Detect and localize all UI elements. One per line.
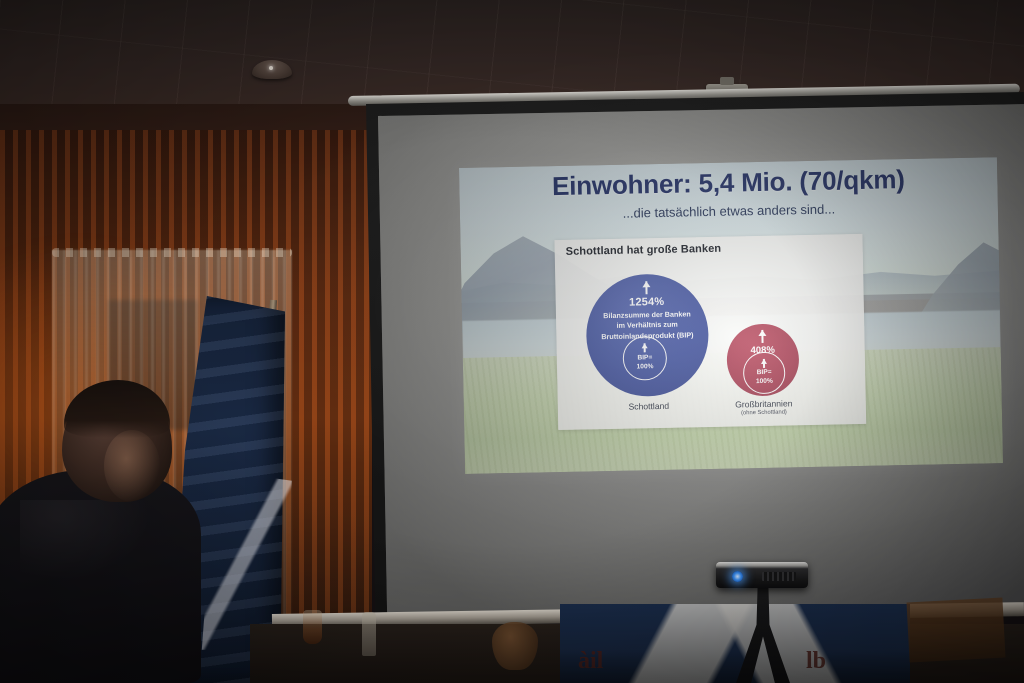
screen-vignette (378, 104, 1024, 622)
net-curtain-rail (52, 248, 292, 257)
projector-vent (762, 572, 796, 581)
photo-scene: Einwohner: 5,4 Mio. (70/qkm) ...die tats… (0, 0, 1024, 683)
banner-shadow (560, 604, 910, 683)
drinking-glass (303, 610, 322, 644)
projector-led-icon (732, 571, 743, 582)
bottle (362, 612, 376, 656)
presenter-face (104, 430, 160, 502)
projector (716, 562, 808, 588)
wooden-crate (906, 598, 1005, 663)
jug (492, 622, 538, 670)
presenter-shoulder-highlight (20, 500, 150, 580)
smoke-detector-icon (252, 60, 292, 79)
